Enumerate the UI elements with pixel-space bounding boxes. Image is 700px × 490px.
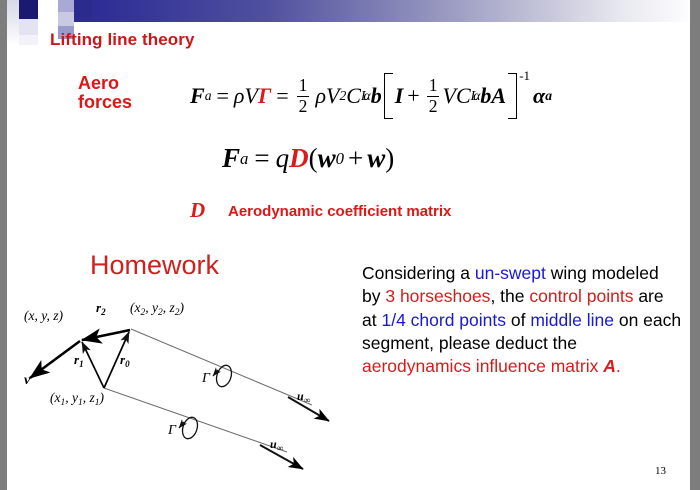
paragraph-run-11: aerodynamics influence matrix xyxy=(362,356,603,376)
eq2-F: F xyxy=(222,143,240,174)
slide-title: Lifting line theory xyxy=(50,30,195,50)
diagram-label-r2: r2 xyxy=(96,300,106,317)
diagram-label-point-1: (x1, y1, z1) xyxy=(50,390,105,408)
header-block-7 xyxy=(19,19,38,35)
header-gradient-band xyxy=(7,0,690,22)
eq1-bracket-right xyxy=(508,73,517,119)
eq1-F-sub: a xyxy=(205,88,212,104)
eq1-alpha-sub: a xyxy=(545,88,552,104)
circulation-spiral-lower xyxy=(179,415,200,440)
diagram-label-point-2: (x2, y2, z2) xyxy=(130,300,185,318)
header-block-gutter xyxy=(7,0,19,45)
eq1-C-2: C xyxy=(456,83,471,109)
eq1-C-2-sup: α xyxy=(473,88,480,104)
paragraph-run-1: un-swept xyxy=(475,263,546,283)
equation-aero-coefficient: Fa = qD(w0+w) xyxy=(222,143,394,174)
eq1-V-3: V xyxy=(442,83,455,109)
eq1-C: C xyxy=(346,83,361,109)
diagram-label-r0: r0 xyxy=(120,352,130,369)
eq2-D: D xyxy=(289,143,309,174)
vector-r2-bold xyxy=(82,330,130,340)
eq1-bracket-group: I + 1 2 VCLαbA -1 xyxy=(384,73,517,119)
header-block-2 xyxy=(38,0,58,12)
eq1-equals-2: = xyxy=(276,83,288,109)
eq1-bracket-left xyxy=(384,73,393,119)
eq2-equals: = xyxy=(254,143,269,174)
eq2-w: w xyxy=(367,143,385,174)
eq1-C-sup: α xyxy=(364,88,371,104)
slide-left-border xyxy=(0,0,7,490)
eq2-q: q xyxy=(276,143,290,174)
paragraph-run-8: of xyxy=(506,310,530,330)
paragraph-run-4: , the xyxy=(490,286,529,306)
eq1-rho-2: ρ xyxy=(315,83,326,109)
eq1-bracket-exponent: -1 xyxy=(519,68,530,84)
trailing-vortex-lines xyxy=(104,329,312,452)
aero-forces-label-line2: forces xyxy=(78,93,132,112)
eq2-w0: w xyxy=(318,143,336,174)
eq1-b-1: b xyxy=(371,83,382,109)
velocity-vector-v xyxy=(30,341,80,378)
eq1-fraction-denominator: 2 xyxy=(297,96,310,116)
equation-aero-forces: Fa = ρVΓ = 1 2 ρV2CLαb I + 1 2 VCLαbA -1… xyxy=(190,73,552,119)
aero-forces-label-line1: Aero xyxy=(78,74,132,93)
slide-right-border xyxy=(690,0,700,490)
eq1-fraction-half: 1 2 xyxy=(297,77,310,115)
eq1-I: I xyxy=(395,83,404,109)
eq1-fraction2-numerator: 1 xyxy=(427,77,440,96)
header-block-6 xyxy=(58,12,74,26)
paragraph-run-7: 1/4 chord points xyxy=(381,310,506,330)
eq1-equals-1: = xyxy=(217,83,229,109)
homework-heading: Homework xyxy=(90,250,219,281)
diagram-label-r1: r1 xyxy=(74,352,84,369)
horseshoe-vortex-diagram: (x, y, z) (x2, y2, z2) (x1, y1, z1) r2 r… xyxy=(12,292,352,482)
diagram-label-u-inf-lower: u∞ xyxy=(270,437,283,453)
header-block-3 xyxy=(58,0,74,12)
paragraph-run-5: control points xyxy=(529,286,633,306)
eq2-paren-open: ( xyxy=(309,143,318,174)
eq1-F: F xyxy=(190,83,205,109)
diagram-label-v: v xyxy=(24,373,31,388)
header-block-10 xyxy=(19,35,38,45)
diagram-label-field-point: (x, y, z) xyxy=(24,308,64,323)
eq2-F-sub: a xyxy=(240,149,248,169)
eq2-plus: + xyxy=(348,143,363,174)
header-block-5 xyxy=(38,12,58,26)
eq1-gamma: Γ xyxy=(258,83,271,109)
paragraph-run-3: 3 horseshoes xyxy=(385,286,490,306)
header-block-1 xyxy=(19,0,38,19)
eq1-fraction-half-2: 1 2 xyxy=(427,77,440,115)
paragraph-run-0: Considering a xyxy=(362,263,475,283)
d-matrix-symbol: D xyxy=(190,198,205,223)
freestream-arrows xyxy=(260,397,329,469)
slide-canvas: Lifting line theory Aero forces Fa = ρVΓ… xyxy=(0,0,700,490)
aero-forces-label: Aero forces xyxy=(78,74,132,112)
eq1-V-2-sup: 2 xyxy=(339,88,346,104)
eq1-rho-1: ρ xyxy=(234,83,245,109)
paragraph-run-13: . xyxy=(616,356,621,376)
paragraph-run-12: A xyxy=(603,356,616,376)
diagram-label-u-inf-upper: u∞ xyxy=(297,389,310,405)
eq1-fraction2-denominator: 2 xyxy=(427,96,440,116)
eq1-b-2: b xyxy=(480,83,491,109)
eq1-fraction-numerator: 1 xyxy=(297,77,310,96)
header-block-4 xyxy=(74,0,92,18)
eq2-w0-sub: 0 xyxy=(336,149,344,169)
homework-paragraph: Considering a un-swept wing modeled by 3… xyxy=(362,262,682,378)
eq1-plus: + xyxy=(407,83,419,109)
diagram-label-gamma-upper: Γ xyxy=(201,371,211,386)
vector-r1 xyxy=(82,342,104,388)
eq1-alpha: α xyxy=(533,83,545,109)
eq1-V-2: V xyxy=(326,83,339,109)
eq2-paren-close: ) xyxy=(385,143,394,174)
eq1-bracket-inner: I + 1 2 VCLαbA xyxy=(393,73,508,119)
eq1-A: A xyxy=(491,83,506,109)
eq1-V-1: V xyxy=(244,83,257,109)
circulation-spiral-upper xyxy=(213,363,234,388)
paragraph-run-9: middle line xyxy=(530,310,614,330)
page-number: 13 xyxy=(655,465,666,477)
diagram-label-gamma-lower: Γ xyxy=(167,423,177,438)
d-matrix-caption: Aerodynamic coefficient matrix xyxy=(228,203,451,220)
